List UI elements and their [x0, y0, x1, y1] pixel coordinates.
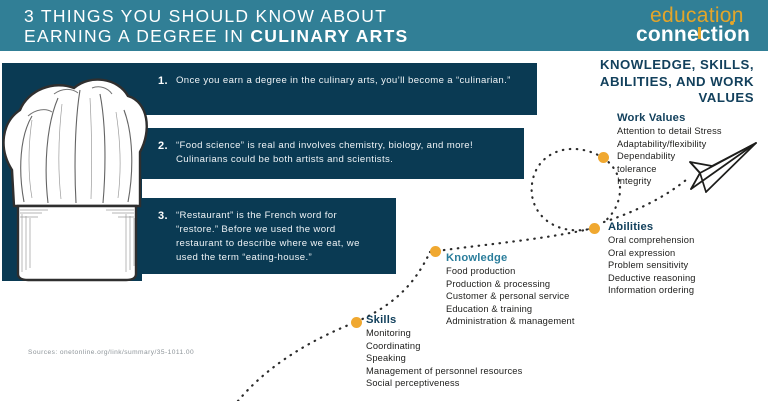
list-item: Speaking	[366, 352, 586, 365]
page-title-line2: EARNING A DEGREE IN CULINARY ARTS	[24, 26, 494, 46]
infographic-canvas: 3 THINGS YOU SHOULD KNOW ABOUT EARNING A…	[0, 0, 768, 401]
list-item: tolerance	[617, 163, 767, 176]
category-list-work-values: Attention to detail Stress Adaptability/…	[617, 125, 767, 188]
marker-dot-work-values	[598, 152, 609, 163]
page-title-line2-bold: CULINARY ARTS	[250, 26, 408, 46]
fact-number-1: 1.	[158, 74, 168, 88]
section-heading: KNOWLEDGE, SKILLS, ABILITIES, AND WORK V…	[524, 57, 754, 107]
list-item: Monitoring	[366, 327, 586, 340]
list-item: Dependability	[617, 150, 767, 163]
fact-number-3: 3.	[158, 209, 168, 223]
list-item: Oral comprehension	[608, 234, 768, 247]
category-title-skills: Skills	[366, 314, 586, 326]
fact-text-3: “Restaurant” is the French word for “res…	[176, 209, 382, 265]
list-item: Coordinating	[366, 340, 586, 353]
category-title-abilities: Abilities	[608, 221, 768, 233]
path-segment-knowledge-to-abilities	[430, 228, 594, 252]
page-title-line1: 3 THINGS YOU SHOULD KNOW ABOUT	[24, 6, 494, 26]
fact-number-2: 2.	[158, 139, 168, 153]
category-skills: Skills Monitoring Coordinating Speaking …	[366, 314, 586, 390]
list-item: Attention to detail Stress	[617, 125, 767, 138]
list-item: Social perceptiveness	[366, 377, 586, 390]
category-title-work-values: Work Values	[617, 112, 767, 124]
section-heading-line2: ABILITIES, AND WORK	[524, 74, 754, 91]
category-work-values: Work Values Attention to detail Stress A…	[617, 112, 767, 188]
marker-dot-knowledge	[430, 246, 441, 257]
list-item: Food production	[446, 265, 646, 278]
fact-text-1: Once you earn a degree in the culinary a…	[176, 74, 523, 88]
fact-text-2: “Food science” is real and involves chem…	[176, 139, 510, 167]
marker-dot-skills	[351, 317, 362, 328]
category-title-knowledge: Knowledge	[446, 252, 646, 264]
brand-logo-tbar-icon	[698, 27, 701, 39]
brand-logo-word-connection: connection	[636, 24, 750, 45]
marker-dot-abilities	[589, 223, 600, 234]
list-item: Adaptability/flexibility	[617, 138, 767, 151]
list-item: Management of personnel resources	[366, 365, 586, 378]
category-list-skills: Monitoring Coordinating Speaking Managem…	[366, 327, 586, 390]
fact-panel-1: 1. Once you earn a degree in the culinar…	[140, 63, 537, 115]
chef-hat-icon	[2, 60, 150, 290]
section-heading-line1: KNOWLEDGE, SKILLS,	[524, 57, 754, 74]
section-heading-line3: VALUES	[524, 90, 754, 107]
sources-note: Sources: onetonline.org/link/summary/35-…	[28, 349, 194, 356]
chef-hat-illustration	[2, 60, 150, 290]
list-item: Production & processing	[446, 278, 646, 291]
page-title: 3 THINGS YOU SHOULD KNOW ABOUT EARNING A…	[24, 6, 494, 46]
path-segment-to-skills	[238, 322, 356, 401]
list-item: Customer & personal service	[446, 290, 646, 303]
brand-logo-dot-icon	[730, 21, 734, 25]
fact-panel-2: 2. “Food science” is real and involves c…	[140, 128, 524, 179]
fact-panel-3: 3. “Restaurant” is the French word for “…	[140, 198, 396, 274]
page-title-line2-normal: EARNING A DEGREE IN	[24, 26, 250, 46]
brand-logo[interactable]: education connection	[636, 5, 750, 45]
list-item: Integrity	[617, 175, 767, 188]
